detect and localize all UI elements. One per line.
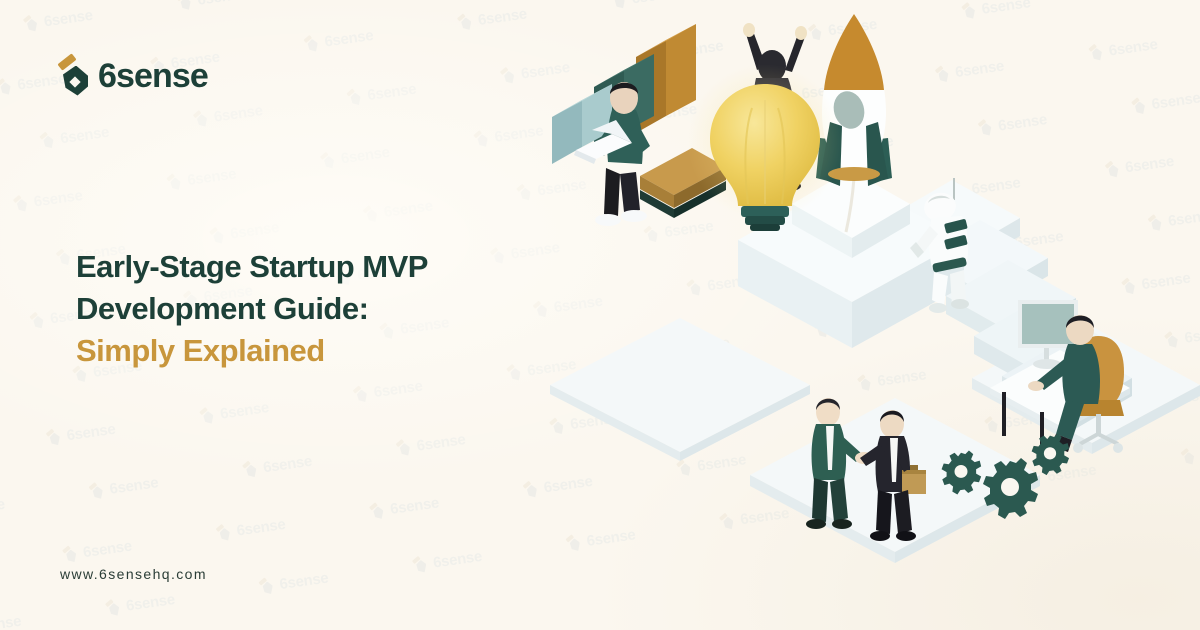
watermark-label: 6sense — [278, 569, 329, 593]
6sense-watermark-tile: 6sense — [0, 496, 6, 522]
watermark-label: 6sense — [186, 165, 237, 189]
6sense-logo-icon — [58, 58, 88, 96]
6sense-logo-icon — [13, 195, 28, 213]
6sense-watermark-tile: 6sense — [193, 102, 264, 128]
watermark-label: 6sense — [236, 516, 287, 540]
social-card: 6sense 6sense 6sense 6sense 6sense 6sens… — [0, 0, 1200, 630]
watermark-label: 6sense — [340, 144, 391, 168]
6sense-logo-icon — [259, 578, 274, 596]
6sense-logo-icon — [500, 67, 515, 85]
6sense-logo-icon — [209, 227, 224, 245]
6sense-logo-icon — [347, 89, 362, 107]
6sense-logo-icon — [396, 439, 411, 457]
watermark-label: 6sense — [432, 548, 483, 572]
6sense-watermark-tile: 6sense — [320, 144, 391, 170]
headline-line-2: Development Guide: — [76, 288, 546, 330]
headline-line-3-accent: Simply Explained — [76, 330, 546, 372]
6sense-watermark-tile: 6sense — [13, 187, 84, 213]
6sense-watermark-tile: 6sense — [369, 494, 440, 520]
watermark-label: 6sense — [219, 399, 270, 423]
6sense-logo-icon — [46, 429, 61, 447]
6sense-logo-icon — [0, 78, 12, 96]
6sense-watermark-tile: 6sense — [353, 377, 424, 403]
watermark-label: 6sense — [262, 453, 313, 477]
6sense-watermark-tile: 6sense — [347, 80, 418, 106]
watermark-label: 6sense — [383, 197, 434, 221]
6sense-logo-icon — [56, 249, 71, 267]
watermark-label: 6sense — [125, 591, 176, 615]
watermark-label: 6sense — [108, 474, 159, 498]
6sense-watermark-tile: 6sense — [216, 516, 287, 542]
6sense-watermark-tile: 6sense — [46, 421, 117, 447]
6sense-logo-icon — [457, 14, 472, 32]
watermark-label: 6sense — [43, 7, 94, 31]
6sense-logo-icon — [304, 35, 319, 53]
6sense-logo-icon — [199, 407, 214, 425]
watermark-label: 6sense — [66, 421, 117, 445]
6sense-logo-icon — [363, 206, 378, 224]
headline-line-1: Early-Stage Startup MVP — [76, 246, 546, 288]
6sense-watermark-tile: 6sense — [412, 548, 483, 574]
watermark-label: 6sense — [366, 80, 417, 104]
6sense-watermark-tile: 6sense — [62, 537, 133, 563]
6sense-watermark-tile: 6sense — [0, 613, 22, 630]
6sense-logo-icon — [62, 546, 77, 564]
watermark-label: 6sense — [323, 27, 374, 51]
6sense-logo-icon — [167, 174, 182, 192]
6sense-watermark-tile: 6sense — [242, 453, 313, 479]
6sense-watermark-tile: 6sense — [209, 219, 280, 245]
watermark-label: 6sense — [229, 219, 280, 243]
brand-logo[interactable]: 6sense — [58, 57, 208, 96]
page-title: Early-Stage Startup MVP Development Guid… — [76, 246, 546, 372]
6sense-logo-icon — [242, 461, 257, 479]
6sense-logo-icon — [369, 503, 384, 521]
6sense-watermark-tile: 6sense — [166, 165, 237, 191]
6sense-watermark-tile: 6sense — [23, 7, 94, 33]
watermark-label: 6sense — [373, 377, 424, 401]
6sense-watermark-tile: 6sense — [177, 0, 248, 12]
6sense-watermark-tile: 6sense — [457, 5, 528, 31]
watermark-label: 6sense — [59, 124, 110, 148]
6sense-logo-icon — [39, 132, 54, 150]
6sense-logo-icon — [353, 386, 368, 404]
6sense-watermark-tile: 6sense — [304, 27, 375, 53]
6sense-watermark-tile: 6sense — [105, 591, 176, 617]
6sense-logo-icon — [29, 312, 44, 330]
6sense-watermark-tile: 6sense — [39, 124, 110, 150]
6sense-logo-icon — [474, 130, 489, 148]
startup-journey-isometric-illustration — [520, 0, 1200, 630]
6sense-logo-icon — [320, 152, 335, 170]
6sense-logo-icon — [216, 524, 231, 542]
platform-lower-left — [550, 318, 810, 461]
6sense-watermark-tile: 6sense — [199, 399, 270, 425]
watermark-label: 6sense — [33, 187, 84, 211]
watermark-label: 6sense — [0, 496, 6, 520]
footer-website-url[interactable]: www.6sensehq.com — [60, 566, 207, 582]
6sense-logo-icon — [193, 110, 208, 128]
watermark-label: 6sense — [196, 0, 247, 9]
6sense-watermark-tile: 6sense — [259, 569, 330, 595]
watermark-label: 6sense — [0, 613, 22, 630]
6sense-logo-icon — [412, 556, 427, 574]
6sense-watermark-tile: 6sense — [396, 431, 467, 457]
brand-logo-text: 6sense — [98, 57, 208, 96]
watermark-label: 6sense — [416, 431, 467, 455]
watermark-label: 6sense — [389, 494, 440, 518]
6sense-logo-icon — [177, 0, 192, 11]
6sense-logo-icon — [105, 599, 120, 617]
watermark-label: 6sense — [213, 102, 264, 126]
watermark-label: 6sense — [82, 537, 133, 561]
6sense-logo-icon — [23, 15, 38, 33]
6sense-watermark-tile: 6sense — [89, 474, 160, 500]
6sense-watermark-tile: 6sense — [363, 197, 434, 223]
6sense-logo-icon — [89, 482, 104, 500]
